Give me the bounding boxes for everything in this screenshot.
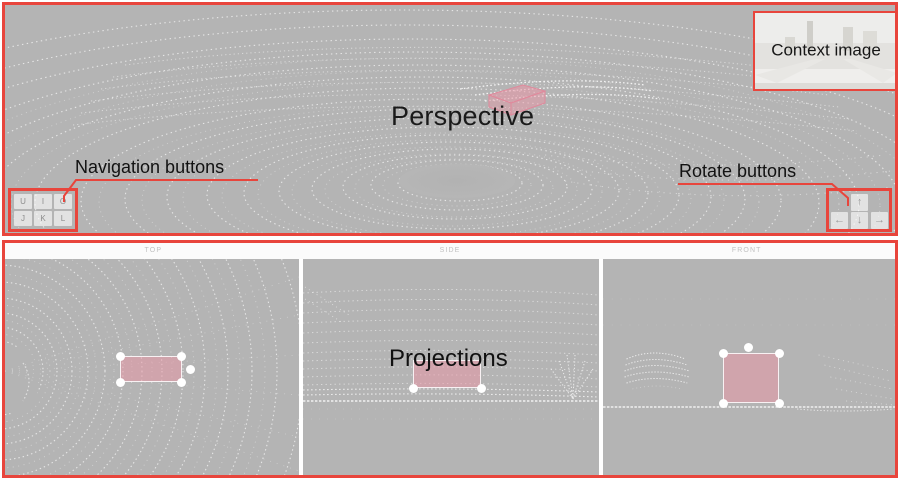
context-image-panel[interactable]: Context image bbox=[753, 11, 898, 91]
handle-top-sw[interactable] bbox=[116, 378, 125, 387]
projections-view-label: Projections bbox=[389, 345, 508, 373]
handle-front-se[interactable] bbox=[775, 399, 784, 408]
rotate-left-icon[interactable]: ← bbox=[831, 212, 848, 229]
rotate-right-icon[interactable]: → bbox=[871, 212, 888, 229]
handle-front-ne[interactable] bbox=[775, 349, 784, 358]
handle-top-nw[interactable] bbox=[116, 352, 125, 361]
perspective-panel[interactable]: Perspective bbox=[2, 2, 898, 236]
handle-side-sw[interactable] bbox=[409, 384, 418, 393]
rotate-buttons-group[interactable]: ↑ ← ↓ → bbox=[826, 188, 892, 232]
nav-key-o[interactable]: O bbox=[54, 194, 72, 209]
handle-top-ne[interactable] bbox=[177, 352, 186, 361]
handle-front-top-center[interactable] bbox=[744, 343, 753, 352]
navigation-buttons-group[interactable]: U I O J K L bbox=[8, 188, 78, 232]
projection-header-front: FRONT bbox=[598, 243, 895, 259]
nav-key-u[interactable]: U bbox=[14, 194, 32, 209]
handle-front-nw[interactable] bbox=[719, 349, 728, 358]
handle-front-sw[interactable] bbox=[719, 399, 728, 408]
handle-side-se[interactable] bbox=[477, 384, 486, 393]
context-image-label: Context image bbox=[755, 41, 897, 61]
projection-headers: TOP SIDE FRONT bbox=[5, 243, 895, 259]
nav-key-j[interactable]: J bbox=[14, 211, 32, 226]
bounding-box-front-view[interactable] bbox=[723, 353, 779, 403]
bounding-box-top-view[interactable] bbox=[120, 356, 182, 382]
nav-key-k[interactable]: K bbox=[34, 211, 52, 226]
navigation-buttons-callout-label: Navigation buttons bbox=[75, 157, 224, 178]
projection-header-side: SIDE bbox=[302, 243, 599, 259]
annotation-tool-root: Perspective bbox=[0, 0, 900, 480]
perspective-view-label: Perspective bbox=[391, 101, 534, 132]
rotate-buttons-callout-label: Rotate buttons bbox=[679, 161, 796, 182]
rotate-down-icon[interactable]: ↓ bbox=[851, 212, 868, 229]
handle-top-se[interactable] bbox=[177, 378, 186, 387]
nav-key-l[interactable]: L bbox=[54, 211, 72, 226]
handle-top-heading[interactable] bbox=[186, 365, 195, 374]
rotate-up-icon[interactable]: ↑ bbox=[851, 194, 868, 211]
projection-header-top: TOP bbox=[5, 243, 302, 259]
nav-key-i[interactable]: I bbox=[34, 194, 52, 209]
